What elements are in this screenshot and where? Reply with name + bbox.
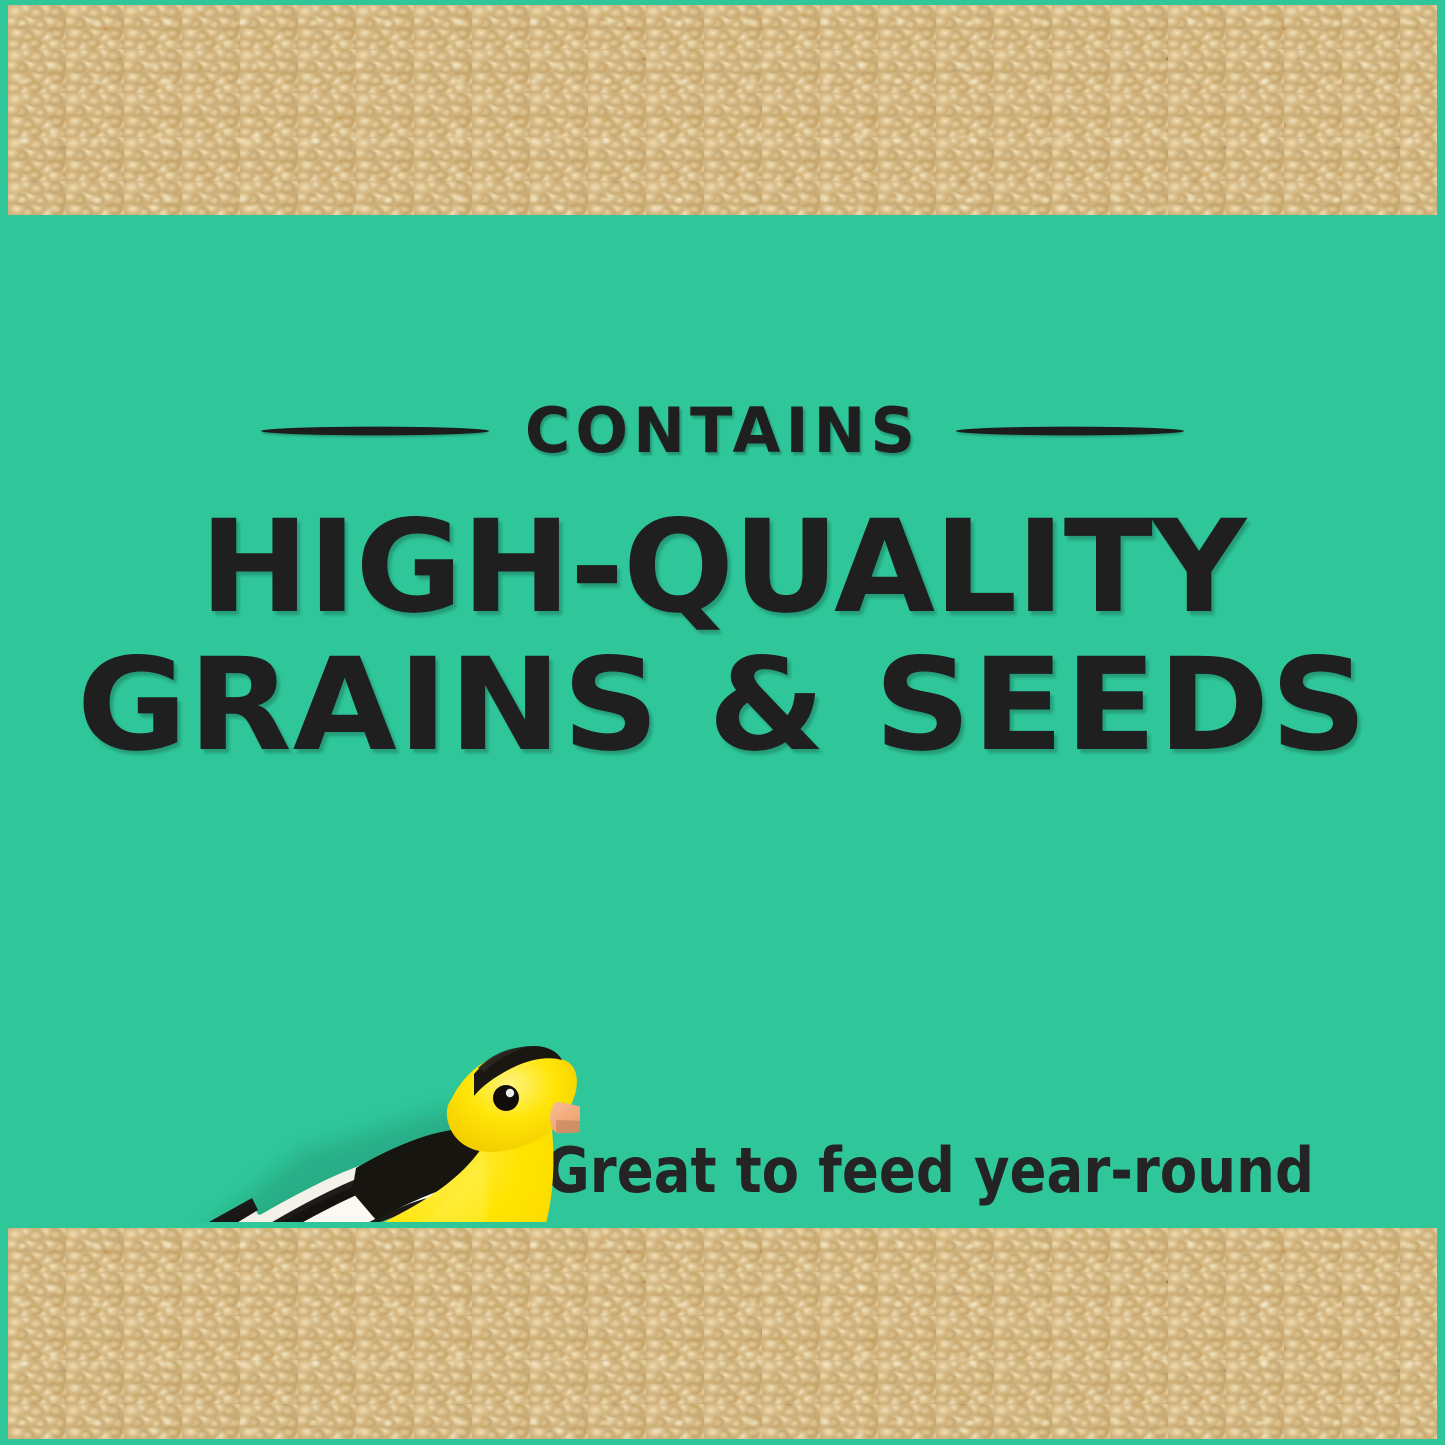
seed-photo-band-bottom — [0, 1222, 1445, 1445]
left-dash-rule — [261, 427, 489, 436]
product-feature-panel: CONTAINS HIGH-QUALITY GRAINS & SEEDS Gre… — [0, 0, 1445, 1445]
right-dash-rule — [956, 427, 1184, 436]
eyebrow-label: CONTAINS — [525, 400, 920, 462]
teal-content-panel: CONTAINS HIGH-QUALITY GRAINS & SEEDS Gre… — [0, 222, 1445, 1222]
headline-line-1: HIGH-QUALITY — [0, 504, 1445, 632]
seed-photo-band-top — [0, 0, 1445, 222]
seed-texture-bottom — [8, 1228, 1437, 1439]
seed-texture-top — [8, 5, 1437, 215]
bird-beak — [550, 1102, 580, 1133]
headline-line-2: GRAINS & SEEDS — [0, 642, 1445, 770]
bird-eye — [493, 1085, 519, 1111]
eyebrow-row: CONTAINS — [0, 400, 1445, 462]
subtitle-text: Great to feed year-round — [545, 1140, 1314, 1202]
